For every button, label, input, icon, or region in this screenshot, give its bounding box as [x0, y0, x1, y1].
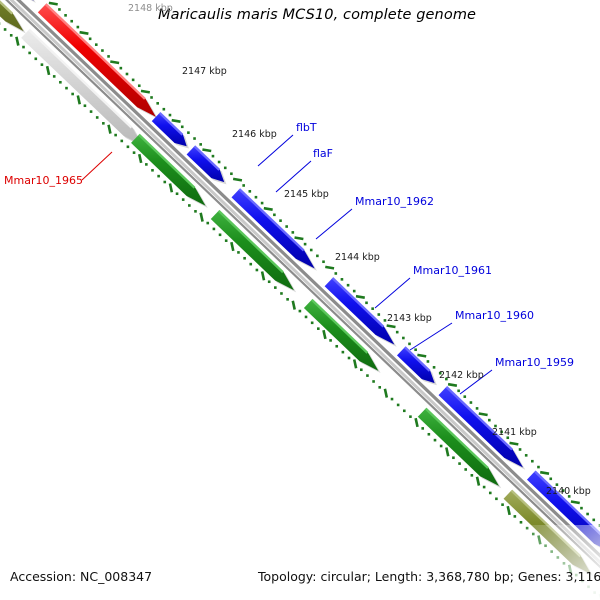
genome-map-viewer: Maricaulis maris MCS10, complete genome … — [0, 0, 600, 600]
tick-label: 2140 kbp — [546, 487, 591, 497]
ruler-tick-dot — [219, 234, 222, 237]
ruler-tick-dot — [120, 67, 123, 70]
ruler-tick-dot — [224, 167, 227, 170]
ruler-tick-major — [417, 355, 426, 357]
ruler-tick-dot — [41, 63, 44, 66]
ruler-tick-major — [479, 414, 488, 416]
ruler-tick-dot — [434, 439, 437, 442]
ruler-tick-dot — [53, 75, 56, 78]
tick-label: 2142 kbp — [439, 371, 484, 381]
ruler-tick-dot — [464, 468, 467, 471]
ruler-tick-major — [80, 32, 89, 34]
ruler-tick-dot — [84, 104, 87, 107]
ruler-tick-dot — [71, 93, 74, 96]
ruler-tick-major — [170, 183, 172, 192]
bottom-right-fade — [500, 525, 600, 600]
ruler-tick-dot — [274, 286, 277, 289]
ruler-tick-major — [49, 3, 58, 5]
ruler-tick-dot — [145, 163, 148, 166]
gene-label-flaF[interactable]: flaF — [313, 148, 333, 159]
ruler-tick-dot — [414, 348, 417, 351]
ruler-tick-dot — [519, 448, 522, 451]
ruler-tick-dot — [495, 498, 498, 501]
ruler-tick-dot — [353, 290, 356, 293]
ruler-tick-dot — [335, 345, 338, 348]
ruler-tick-dot — [342, 351, 345, 354]
ruler-tick-major — [416, 418, 418, 427]
ruler-tick-dot — [483, 486, 486, 489]
ruler-tick-dot — [489, 492, 492, 495]
ruler-tick-dot — [193, 137, 196, 140]
ruler-tick-dot — [151, 169, 154, 172]
ruler-tick-dot — [292, 231, 295, 234]
ruler-tick-dot — [77, 26, 80, 29]
gene-label-flbT[interactable]: flbT — [296, 122, 317, 133]
ruler-tick-dot — [181, 125, 184, 128]
ruler-tick-dot — [96, 116, 99, 119]
tick-label: 2147 kbp — [182, 67, 227, 77]
genome-map-canvas — [0, 0, 600, 600]
tick-label: 2145 kbp — [284, 190, 329, 200]
ruler-tick-dot — [316, 255, 319, 258]
ruler-tick-dot — [378, 386, 381, 389]
gene-body — [152, 112, 187, 146]
ruler-tick-dot — [127, 146, 130, 149]
ruler-tick-major — [387, 326, 396, 328]
ruler-tick-dot — [163, 181, 166, 184]
ruler-tick-dot — [463, 395, 466, 398]
ruler-tick-dot — [89, 37, 92, 40]
ruler-tick-dot — [102, 122, 105, 125]
ruler-tick-major — [47, 66, 49, 75]
ruler-tick-dot — [64, 14, 67, 17]
ruler-tick-dot — [514, 515, 517, 518]
ruler-tick-dot — [537, 466, 540, 469]
ruler-tick-dot — [525, 454, 528, 457]
ruler-tick-major — [262, 271, 264, 280]
ruler-tick-dot — [206, 222, 209, 225]
gene-features-layer — [0, 0, 600, 600]
ruler-tick-dot — [249, 263, 252, 266]
leader-line-Mmar10_1965 — [82, 152, 112, 180]
ruler-tick-dot — [256, 269, 259, 272]
ruler-tick-dot — [163, 108, 166, 111]
ruler-tick-major — [508, 506, 510, 515]
ruler-tick-major — [78, 95, 80, 104]
ruler-tick-dot — [366, 374, 369, 377]
ruler-tick-dot — [188, 204, 191, 207]
gene-label-Mmar10_1961[interactable]: Mmar10_1961 — [413, 265, 492, 276]
ruler-tick-dot — [397, 404, 400, 407]
ruler-tick-dot — [341, 278, 344, 281]
ruler-tick-major — [323, 330, 325, 339]
ruler-tick-dot — [156, 102, 159, 105]
ruler-tick-major — [139, 154, 141, 163]
ruler-tick-dot — [322, 260, 325, 263]
ruler-tick-dot — [10, 34, 13, 37]
ruler-tick-dot — [150, 96, 153, 99]
ruler-tick-dot — [335, 272, 338, 275]
ruler-tick-dot — [377, 313, 380, 316]
page-title: Maricaulis maris MCS10, complete genome — [158, 8, 476, 23]
ruler-tick-dot — [261, 202, 264, 205]
ruler-tick-major — [16, 37, 18, 46]
ruler-tick-dot — [34, 58, 37, 61]
ruler-tick-dot — [243, 257, 246, 260]
ruler-tick-dot — [230, 172, 233, 175]
ruler-tick-dot — [592, 519, 595, 522]
ruler-tick-dot — [452, 456, 455, 459]
ruler-tick-dot — [199, 143, 202, 146]
ruler-tick-major — [356, 296, 365, 298]
ruler-tick-dot — [249, 190, 252, 193]
ruler-tick-dot — [182, 198, 185, 201]
ruler-tick-dot — [391, 398, 394, 401]
ruler-tick-dot — [273, 213, 276, 216]
ruler-tick-dot — [4, 28, 7, 31]
ruler-tick-dot — [120, 140, 123, 143]
gene-label-Mmar10_1960[interactable]: Mmar10_1960 — [455, 310, 534, 321]
ruler-tick-dot — [470, 401, 473, 404]
ruler-tick-dot — [268, 280, 271, 283]
ruler-tick-major — [540, 472, 549, 474]
ruler-tick-dot — [347, 284, 350, 287]
ruler-tick-major — [448, 384, 457, 386]
ruler-tick-dot — [225, 239, 228, 242]
ruler-tick-dot — [402, 337, 405, 340]
leader-line-Mmar10_1960 — [410, 323, 452, 350]
ruler-tick-dot — [428, 433, 431, 436]
ruler-tick-dot — [242, 184, 245, 187]
ruler-tick-dot — [396, 331, 399, 334]
ruler-tick-dot — [279, 219, 282, 222]
ruler-tick-major — [354, 359, 356, 368]
ruler-tick-dot — [409, 415, 412, 418]
ruler-tick-dot — [28, 52, 31, 55]
ruler-tick-dot — [187, 131, 190, 134]
ruler-tick-dot — [317, 327, 320, 330]
ruler-tick-dot — [126, 73, 129, 76]
ruler-tick-dot — [360, 368, 363, 371]
ruler-tick-dot — [157, 175, 160, 178]
ruler-tick-major — [510, 443, 519, 445]
ruler-tick-dot — [169, 114, 172, 117]
ruler-tick-dot — [255, 196, 258, 199]
ruler-tick-dot — [586, 513, 589, 516]
ruler-tick-major — [201, 213, 203, 222]
ruler-tick-dot — [218, 161, 221, 164]
ruler-tick-major — [231, 242, 233, 251]
ruler-tick-dot — [471, 474, 474, 477]
footer-stats: Topology: circular; Length: 3,368,780 bp… — [258, 571, 600, 584]
ruler-tick-dot — [213, 228, 216, 231]
ruler-tick-dot — [304, 243, 307, 246]
ruler-tick-dot — [95, 43, 98, 46]
tick-label: 2146 kbp — [232, 130, 277, 140]
ruler-tick-dot — [329, 339, 332, 342]
ruler-tick-dot — [457, 389, 460, 392]
ruler-tick-major — [172, 120, 181, 122]
ruler-tick-major — [110, 62, 119, 64]
ruler-tick-dot — [458, 462, 461, 465]
ruler-tick-dot — [22, 46, 25, 49]
ruler-tick-dot — [299, 310, 302, 313]
ruler-tick-dot — [488, 419, 491, 422]
gene-label-Mmar10_1965[interactable]: Mmar10_1965 — [4, 175, 83, 186]
ruler-tick-dot — [476, 407, 479, 410]
gene-body — [231, 189, 314, 269]
ruler-tick-dot — [520, 521, 523, 524]
ruler-tick-dot — [286, 298, 289, 301]
ruler-tick-dot — [138, 84, 141, 87]
ruler-tick-major — [264, 208, 273, 210]
ruler-tick-dot — [549, 477, 552, 480]
ruler-tick-dot — [65, 87, 68, 90]
ruler-tick-major — [325, 267, 334, 269]
ruler-tick-dot — [421, 427, 424, 430]
ruler-tick-dot — [101, 49, 104, 52]
ruler-tick-major — [295, 238, 304, 240]
ruler-tick-major — [477, 477, 479, 486]
ruler-tick-dot — [114, 134, 117, 137]
ruler-tick-dot — [90, 110, 93, 113]
ruler-tick-major — [571, 502, 580, 504]
leader-line-Mmar10_1962 — [316, 209, 352, 239]
ruler-tick-dot — [531, 460, 534, 463]
ruler-tick-dot — [58, 8, 61, 11]
ruler-tick-dot — [372, 380, 375, 383]
ruler-tick-dot — [440, 445, 443, 448]
gene-label-Mmar10_1962[interactable]: Mmar10_1962 — [355, 196, 434, 207]
ruler-tick-dot — [310, 249, 313, 252]
ruler-tick-major — [385, 389, 387, 398]
ruler-tick-dot — [348, 357, 351, 360]
ruler-tick-dot — [285, 225, 288, 228]
ruler-tick-dot — [132, 79, 135, 82]
ruler-tick-dot — [59, 81, 62, 84]
ruler-tick-major — [446, 447, 448, 456]
ruler-tick-dot — [237, 251, 240, 254]
ruler-tick-dot — [365, 301, 368, 304]
ruler-tick-dot — [280, 292, 283, 295]
ruler-tick-major — [233, 179, 242, 181]
ruler-tick-dot — [433, 366, 436, 369]
ruler-tick-dot — [133, 151, 136, 154]
ruler-tick-dot — [305, 316, 308, 319]
ruler-tick-dot — [70, 20, 73, 23]
leader-line-Mmar10_1961 — [375, 278, 410, 308]
ruler-tick-dot — [403, 410, 406, 413]
ruler-tick-dot — [176, 192, 179, 195]
ruler-tick-dot — [501, 503, 504, 506]
ruler-tick-dot — [194, 210, 197, 213]
ruler-tick-major — [202, 150, 211, 152]
ruler-tick-dot — [427, 360, 430, 363]
leader-line-flaF — [276, 161, 311, 192]
ruler-tick-major — [293, 301, 295, 310]
ruler-tick-dot — [580, 507, 583, 510]
ruler-tick-dot — [384, 319, 387, 322]
ruler-tick-dot — [107, 55, 110, 58]
ruler-tick-major — [109, 125, 111, 134]
tick-label: 2141 kbp — [492, 428, 537, 438]
ruler-tick-dot — [311, 322, 314, 325]
ruler-tick-dot — [212, 155, 215, 158]
ruler-tick-dot — [371, 307, 374, 310]
ruler-tick-major — [141, 91, 150, 93]
tick-label: 2143 kbp — [387, 314, 432, 324]
footer-accession: Accession: NC_008347 — [10, 571, 152, 584]
ruler-tick-dot — [408, 343, 411, 346]
tick-label: 2144 kbp — [335, 253, 380, 263]
gene-label-Mmar10_1959[interactable]: Mmar10_1959 — [495, 357, 574, 368]
tick-label: 2148 kbp — [128, 4, 173, 14]
